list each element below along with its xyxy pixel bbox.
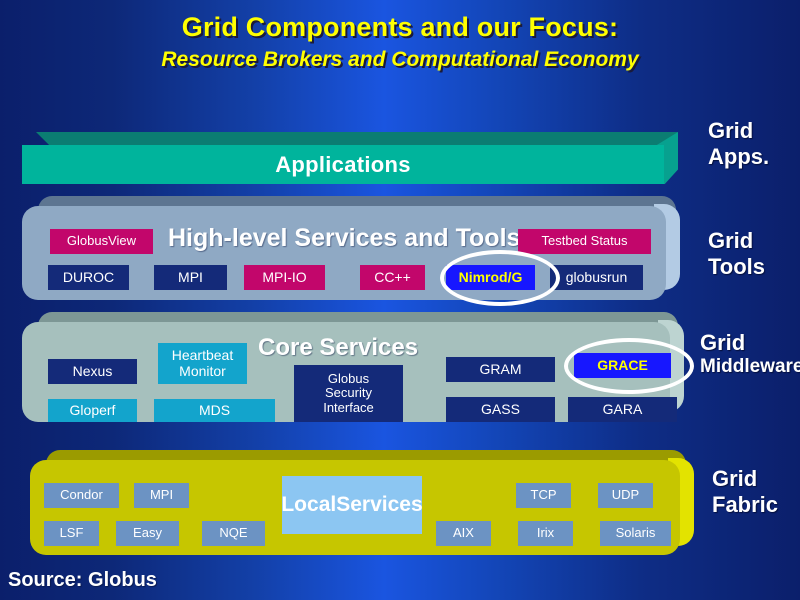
layer-label-line1: Grid [708,228,753,253]
fabric-box-irix[interactable]: Irix [518,514,580,546]
fabric-box-lsf[interactable]: LSF [44,514,106,546]
box-label: MDS [154,399,275,422]
core-box-gass[interactable]: GASS [446,390,562,422]
fabric-box-nqe[interactable]: NQE [202,514,272,546]
layer-label-grid-middleware: Grid Middleware [700,330,800,378]
layer-label-line2: Tools [708,254,765,280]
box-label: MPI [154,265,227,290]
grid-fabric-panel: LocalServices Condor MPI LSF Easy NQE [30,450,696,555]
fabric-box-mpi[interactable]: MPI [134,476,196,508]
box-label: Irix [518,521,573,546]
fabric-box-easy[interactable]: Easy [116,514,186,546]
applications-bar-front-face: Applications [22,145,664,184]
layer-label-grid-fabric: Grid Fabric [712,466,778,518]
box-label: MPI-IO [244,265,325,290]
box-label: Nimrod/G [446,265,535,290]
box-label: GlobusView [50,229,153,254]
box-label: TCP [516,483,571,508]
box-label: MPI [134,483,189,508]
fabric-box-udp[interactable]: UDP [598,476,660,508]
applications-bar: Applications [22,132,678,184]
box-label: DUROC [48,265,129,290]
layer-label-line1: Grid [708,118,753,143]
box-label: LSF [44,521,99,546]
fabric-box-tcp[interactable]: TCP [516,476,578,508]
box-label: Easy [116,521,179,546]
page-subtitle: Resource Brokers and Computational Econo… [0,46,800,73]
fabric-box-solaris[interactable]: Solaris [600,514,678,546]
core-box-nexus[interactable]: Nexus [48,352,144,384]
grid-tools-title: High-level Services and Tools [168,224,520,253]
grid-tools-panel: High-level Services and Tools GlobusView… [22,196,680,300]
tools-box-globusrun[interactable]: globusrun [550,258,650,290]
source-label: Source: Globus [8,569,157,592]
applications-bar-top-face [36,132,678,146]
box-label: Nexus [48,359,137,384]
tools-box-nimrod-g[interactable]: Nimrod/G [446,258,542,290]
box-label: globusrun [550,265,643,290]
box-label: CC++ [360,265,425,290]
box-label: UDP [598,483,653,508]
box-label: HeartbeatMonitor [158,343,247,384]
box-label: GASS [446,397,555,422]
local-services-label: LocalServices [281,493,422,517]
tools-box-duroc[interactable]: DUROC [48,258,136,290]
layer-label-line2: Fabric [712,492,778,518]
box-label: Gloperf [48,399,137,422]
fabric-box-aix[interactable]: AIX [436,514,498,546]
box-label: GRAM [446,357,555,382]
core-box-gara[interactable]: GARA [568,390,684,422]
layer-label-grid-tools: Grid Tools [708,228,765,280]
layer-label-line2: Apps. [708,144,769,170]
tools-box-testbed-status[interactable]: Testbed Status [518,222,658,254]
core-box-grace[interactable]: GRACE [574,346,678,378]
slide-canvas: Grid Components and our Focus: Resource … [0,0,800,600]
box-label: AIX [436,521,491,546]
fabric-box-local-services[interactable]: LocalServices [282,476,422,534]
box-label: NQE [202,521,265,546]
core-box-globus-security-interface[interactable]: GlobusSecurityInterface [294,358,410,422]
core-box-gram[interactable]: GRAM [446,350,562,382]
box-label: Testbed Status [518,229,651,254]
core-box-gloperf[interactable]: Gloperf [48,392,144,422]
tools-box-mpi[interactable]: MPI [154,258,234,290]
box-label: Condor [44,483,119,508]
fabric-box-condor[interactable]: Condor [44,476,126,508]
box-label: GlobusSecurityInterface [294,365,403,422]
box-label: GARA [568,397,677,422]
title-block: Grid Components and our Focus: Resource … [0,12,800,73]
core-box-mds[interactable]: MDS [154,392,282,422]
box-label: GRACE [574,353,671,378]
layer-label-grid-apps: Grid Apps. [708,118,769,170]
core-services-panel: Core Services Nexus HeartbeatMonitor Glo… [22,312,684,422]
tools-box-ccpp[interactable]: CC++ [360,258,432,290]
box-label: Solaris [600,521,671,546]
page-title: Grid Components and our Focus: [0,12,800,44]
tools-box-mpi-io[interactable]: MPI-IO [244,258,332,290]
applications-label: Applications [275,152,411,178]
layer-label-line1: Grid [712,466,757,491]
layer-label-line1: Grid [700,330,745,355]
layer-label-line2: Middleware [700,356,800,378]
tools-box-globusview[interactable]: GlobusView [50,222,160,254]
core-box-heartbeat-monitor[interactable]: HeartbeatMonitor [158,336,254,384]
